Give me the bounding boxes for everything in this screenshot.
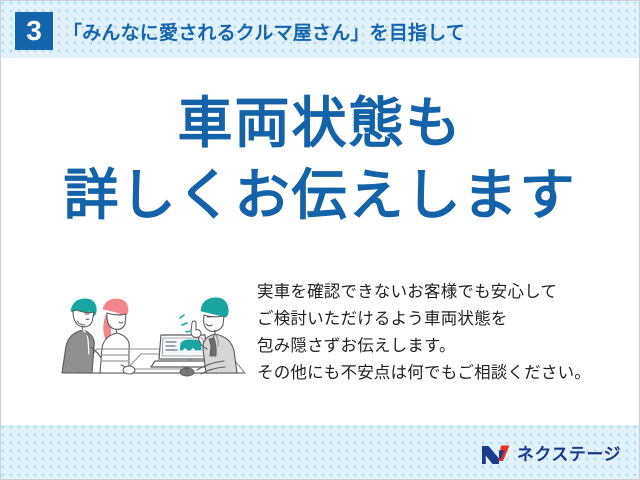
headline: 車両状態も 詳しくお伝えします: [1, 87, 639, 231]
lower-content: 実車を確認できないお客様でも安心して ご検討いただけるよう車両状態を 包み隠さず…: [1, 273, 639, 393]
body-copy-line-4: その他にも不安点は何でもご相談ください。: [257, 360, 591, 387]
headline-line-1: 車両状態も: [1, 87, 639, 159]
header-title: 「みんなに愛されるクルマ屋さん」を目指して: [63, 12, 465, 50]
step-number-badge: 3: [15, 12, 53, 50]
consultation-illustration: [49, 277, 249, 389]
nexstage-logo: ネクステージ: [481, 444, 621, 465]
body-copy-line-2: ご検討いただけるよう車両状態を: [257, 306, 591, 333]
body-copy-line-1: 実車を確認できないお客様でも安心して: [257, 279, 591, 306]
headline-line-2: 詳しくお伝えします: [1, 159, 639, 231]
nexstage-n-logo-icon: [481, 444, 511, 465]
body-copy: 実車を確認できないお客様でも安心して ご検討いただけるよう車両状態を 包み隠さず…: [257, 279, 591, 387]
nexstage-logo-text: ネクステージ: [517, 446, 621, 463]
promo-banner: 3 「みんなに愛されるクルマ屋さん」を目指して 車両状態も 詳しくお伝えします: [0, 0, 640, 480]
body-copy-line-3: 包み隠さずお伝えします。: [257, 333, 591, 360]
